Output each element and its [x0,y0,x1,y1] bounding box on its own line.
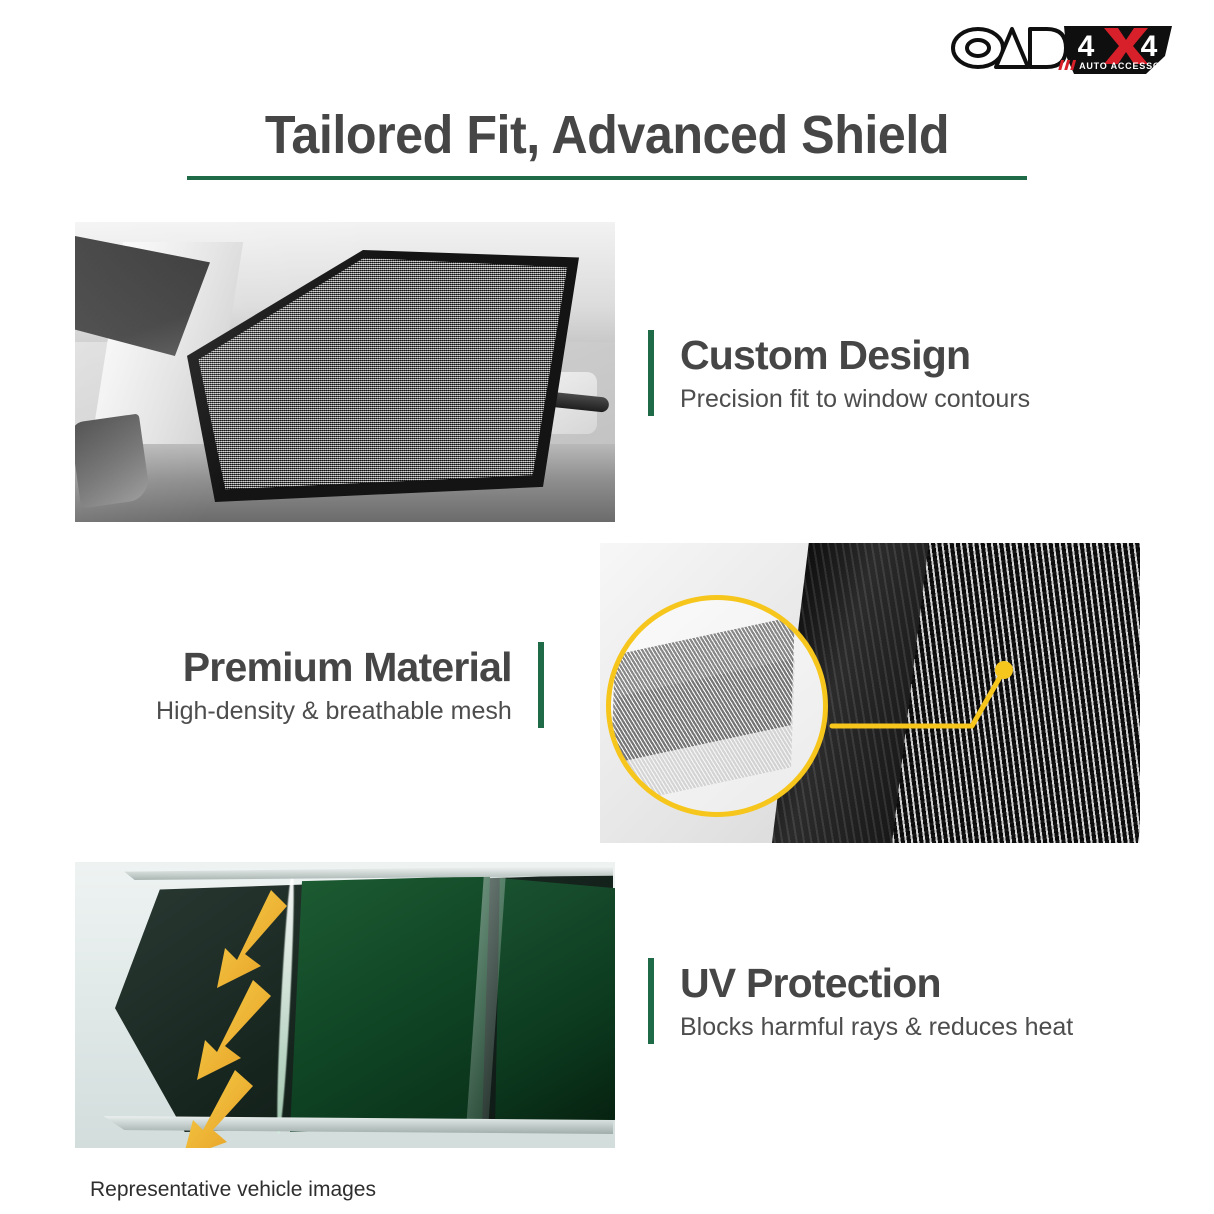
oad-4x4-logo-icon: 4 4 AUTO ACCESSORIES [946,22,1176,84]
brand-logo: 4 4 AUTO ACCESSORIES [946,22,1176,84]
magnifier-circle [606,595,828,817]
feature-subtitle-premium-material: High-density & breathable mesh [156,694,512,728]
custom-design-photo [75,222,615,522]
feature-title-premium-material: Premium Material [156,642,512,692]
logo-tagline: AUTO ACCESSORIES [1079,61,1176,71]
uv-ray-deflection-arrows-icon [75,862,615,1148]
title-underline-rule [187,176,1027,180]
feature-block-uv-protection: UV Protection Blocks harmful rays & redu… [648,958,1073,1044]
premium-material-photo [600,543,1140,843]
svg-text:4: 4 [1078,30,1095,63]
feature-title-custom-design: Custom Design [680,330,1030,380]
feature-title-uv-protection: UV Protection [680,958,1073,1008]
svg-text:4: 4 [1141,30,1158,63]
page-title-block: Tailored Fit, Advanced Shield [0,104,1214,180]
side-mirror [75,414,151,509]
uv-protection-photo [75,862,615,1148]
footer-disclaimer: Representative vehicle images [90,1176,376,1204]
feature-subtitle-custom-design: Precision fit to window contours [680,382,1030,416]
feature-subtitle-uv-protection: Blocks harmful rays & reduces heat [680,1010,1073,1044]
page-title: Tailored Fit, Advanced Shield [42,104,1171,166]
feature-block-premium-material: Premium Material High-density & breathab… [156,642,544,728]
callout-target-dot [995,661,1013,679]
accent-bar-premium-material [538,642,544,728]
feature-block-custom-design: Custom Design Precision fit to window co… [648,330,1030,416]
